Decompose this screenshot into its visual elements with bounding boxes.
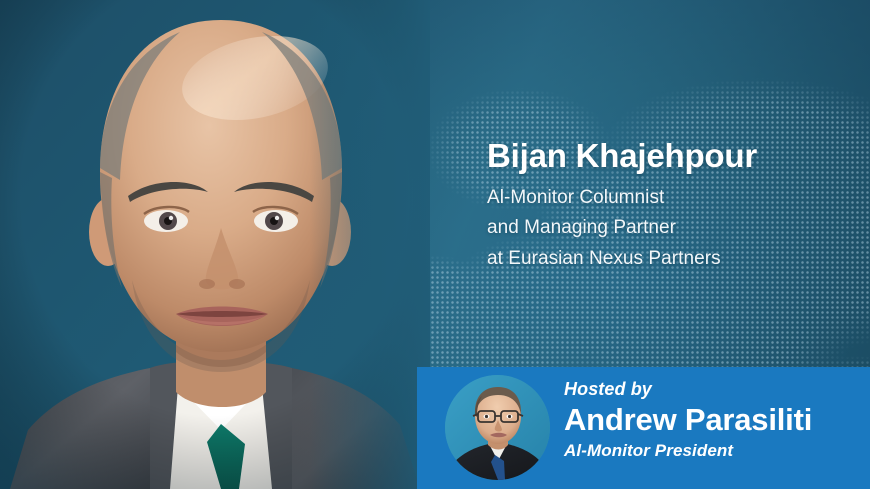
host-avatar	[445, 375, 550, 480]
speaker-role-line-3: at Eurasian Nexus Partners	[487, 244, 857, 275]
host-banner: Hosted by Andrew Parasiliti Al-Monitor P…	[417, 367, 870, 489]
host-portrait-illustration	[445, 375, 550, 480]
speaker-portrait-illustration	[0, 0, 430, 489]
speaker-card: Bijan Khajehpour Al-Monitor Columnist an…	[0, 0, 870, 489]
speaker-portrait-photo	[0, 0, 430, 489]
speaker-titles: Bijan Khajehpour Al-Monitor Columnist an…	[487, 138, 857, 275]
speaker-name: Bijan Khajehpour	[487, 138, 857, 174]
speaker-role-line-2: and Managing Partner	[487, 213, 857, 244]
host-role: Al-Monitor President	[564, 440, 862, 462]
host-text-block: Hosted by Andrew Parasiliti Al-Monitor P…	[564, 378, 862, 462]
hosted-by-label: Hosted by	[564, 378, 862, 401]
speaker-role-line-1: Al-Monitor Columnist	[487, 183, 857, 214]
host-name: Andrew Parasiliti	[564, 402, 862, 439]
